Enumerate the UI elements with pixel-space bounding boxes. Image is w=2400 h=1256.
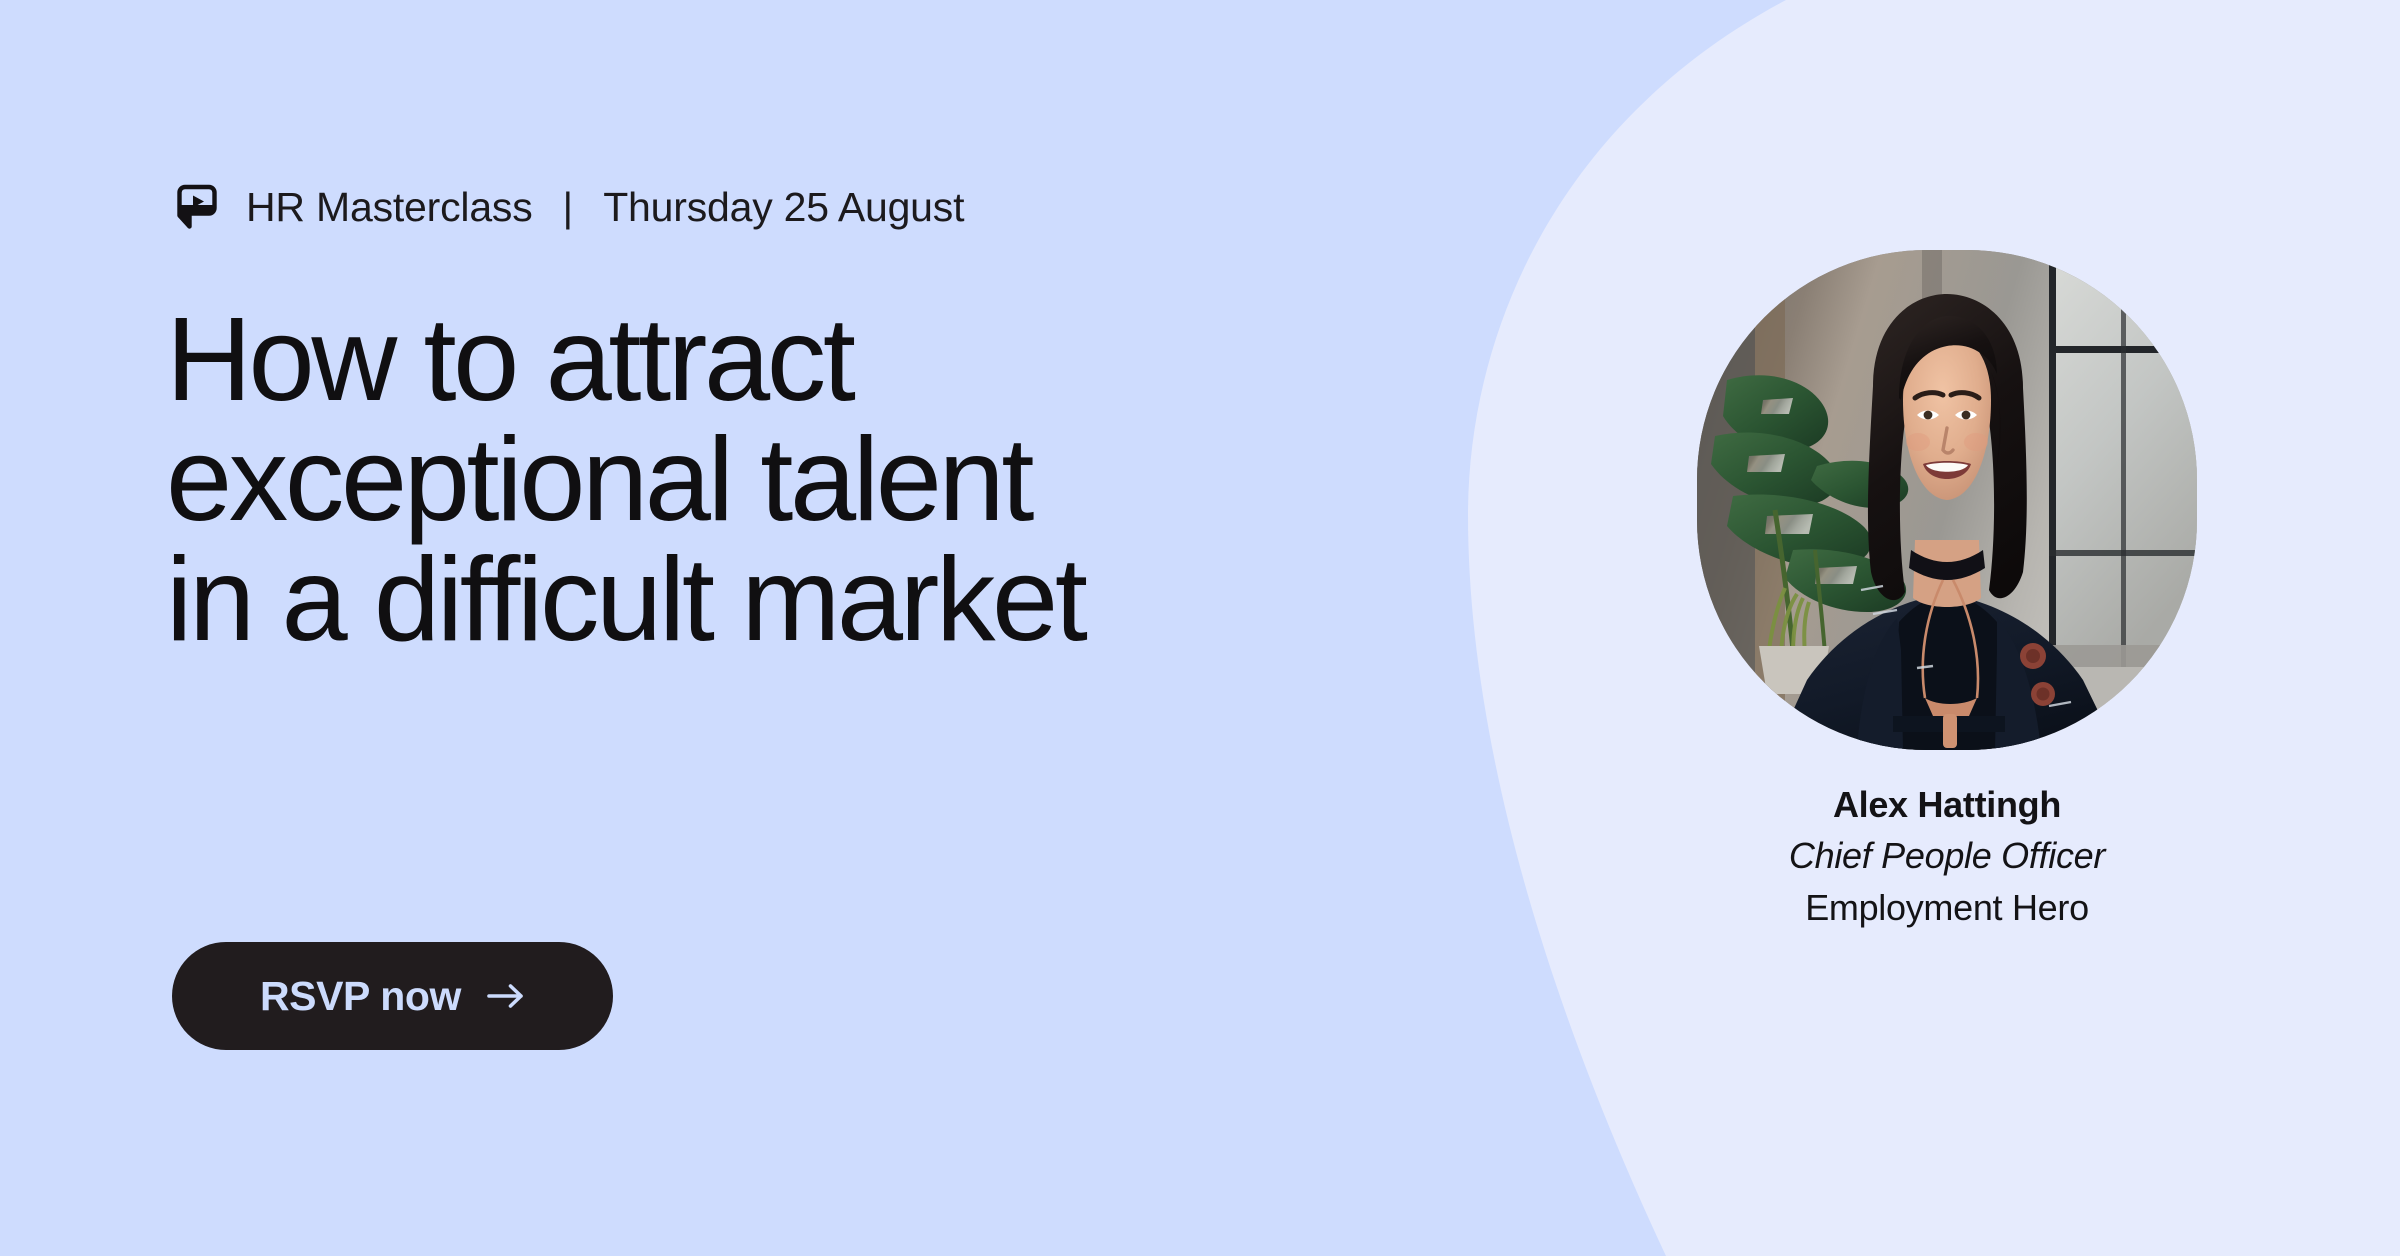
headline-line-2: exceptional talent [166,420,1085,540]
eyebrow-date-label: Thursday 25 August [603,187,964,228]
eyebrow-series-label: HR Masterclass [246,187,533,228]
speaker-role: Chief People Officer [1697,838,2197,874]
headline-line-1: How to attract [166,300,1085,420]
speaker-name: Alex Hattingh [1697,787,2197,823]
speaker-avatar [1697,250,2197,750]
speaker-organisation: Employment Hero [1697,890,2197,926]
rsvp-button-label: RSVP now [260,973,461,1020]
banner-content: HR Masterclass | Thursday 25 August How … [172,0,1492,1256]
page-title: How to attract exceptional talent in a d… [166,300,1085,660]
eyebrow-separator: | [557,187,580,228]
speaker-details: Alex Hattingh Chief People Officer Emplo… [1697,787,2197,926]
speaker-card: Alex Hattingh Chief People Officer Emplo… [1697,250,2197,926]
eyebrow-row: HR Masterclass | Thursday 25 August [172,182,964,232]
headline-line-3: in a difficult market [166,540,1085,660]
webinar-promo-banner: HR Masterclass | Thursday 25 August How … [0,0,2400,1256]
rsvp-button[interactable]: RSVP now [172,942,613,1050]
arrow-right-icon [487,983,525,1009]
video-chat-bubble-icon [172,182,222,232]
